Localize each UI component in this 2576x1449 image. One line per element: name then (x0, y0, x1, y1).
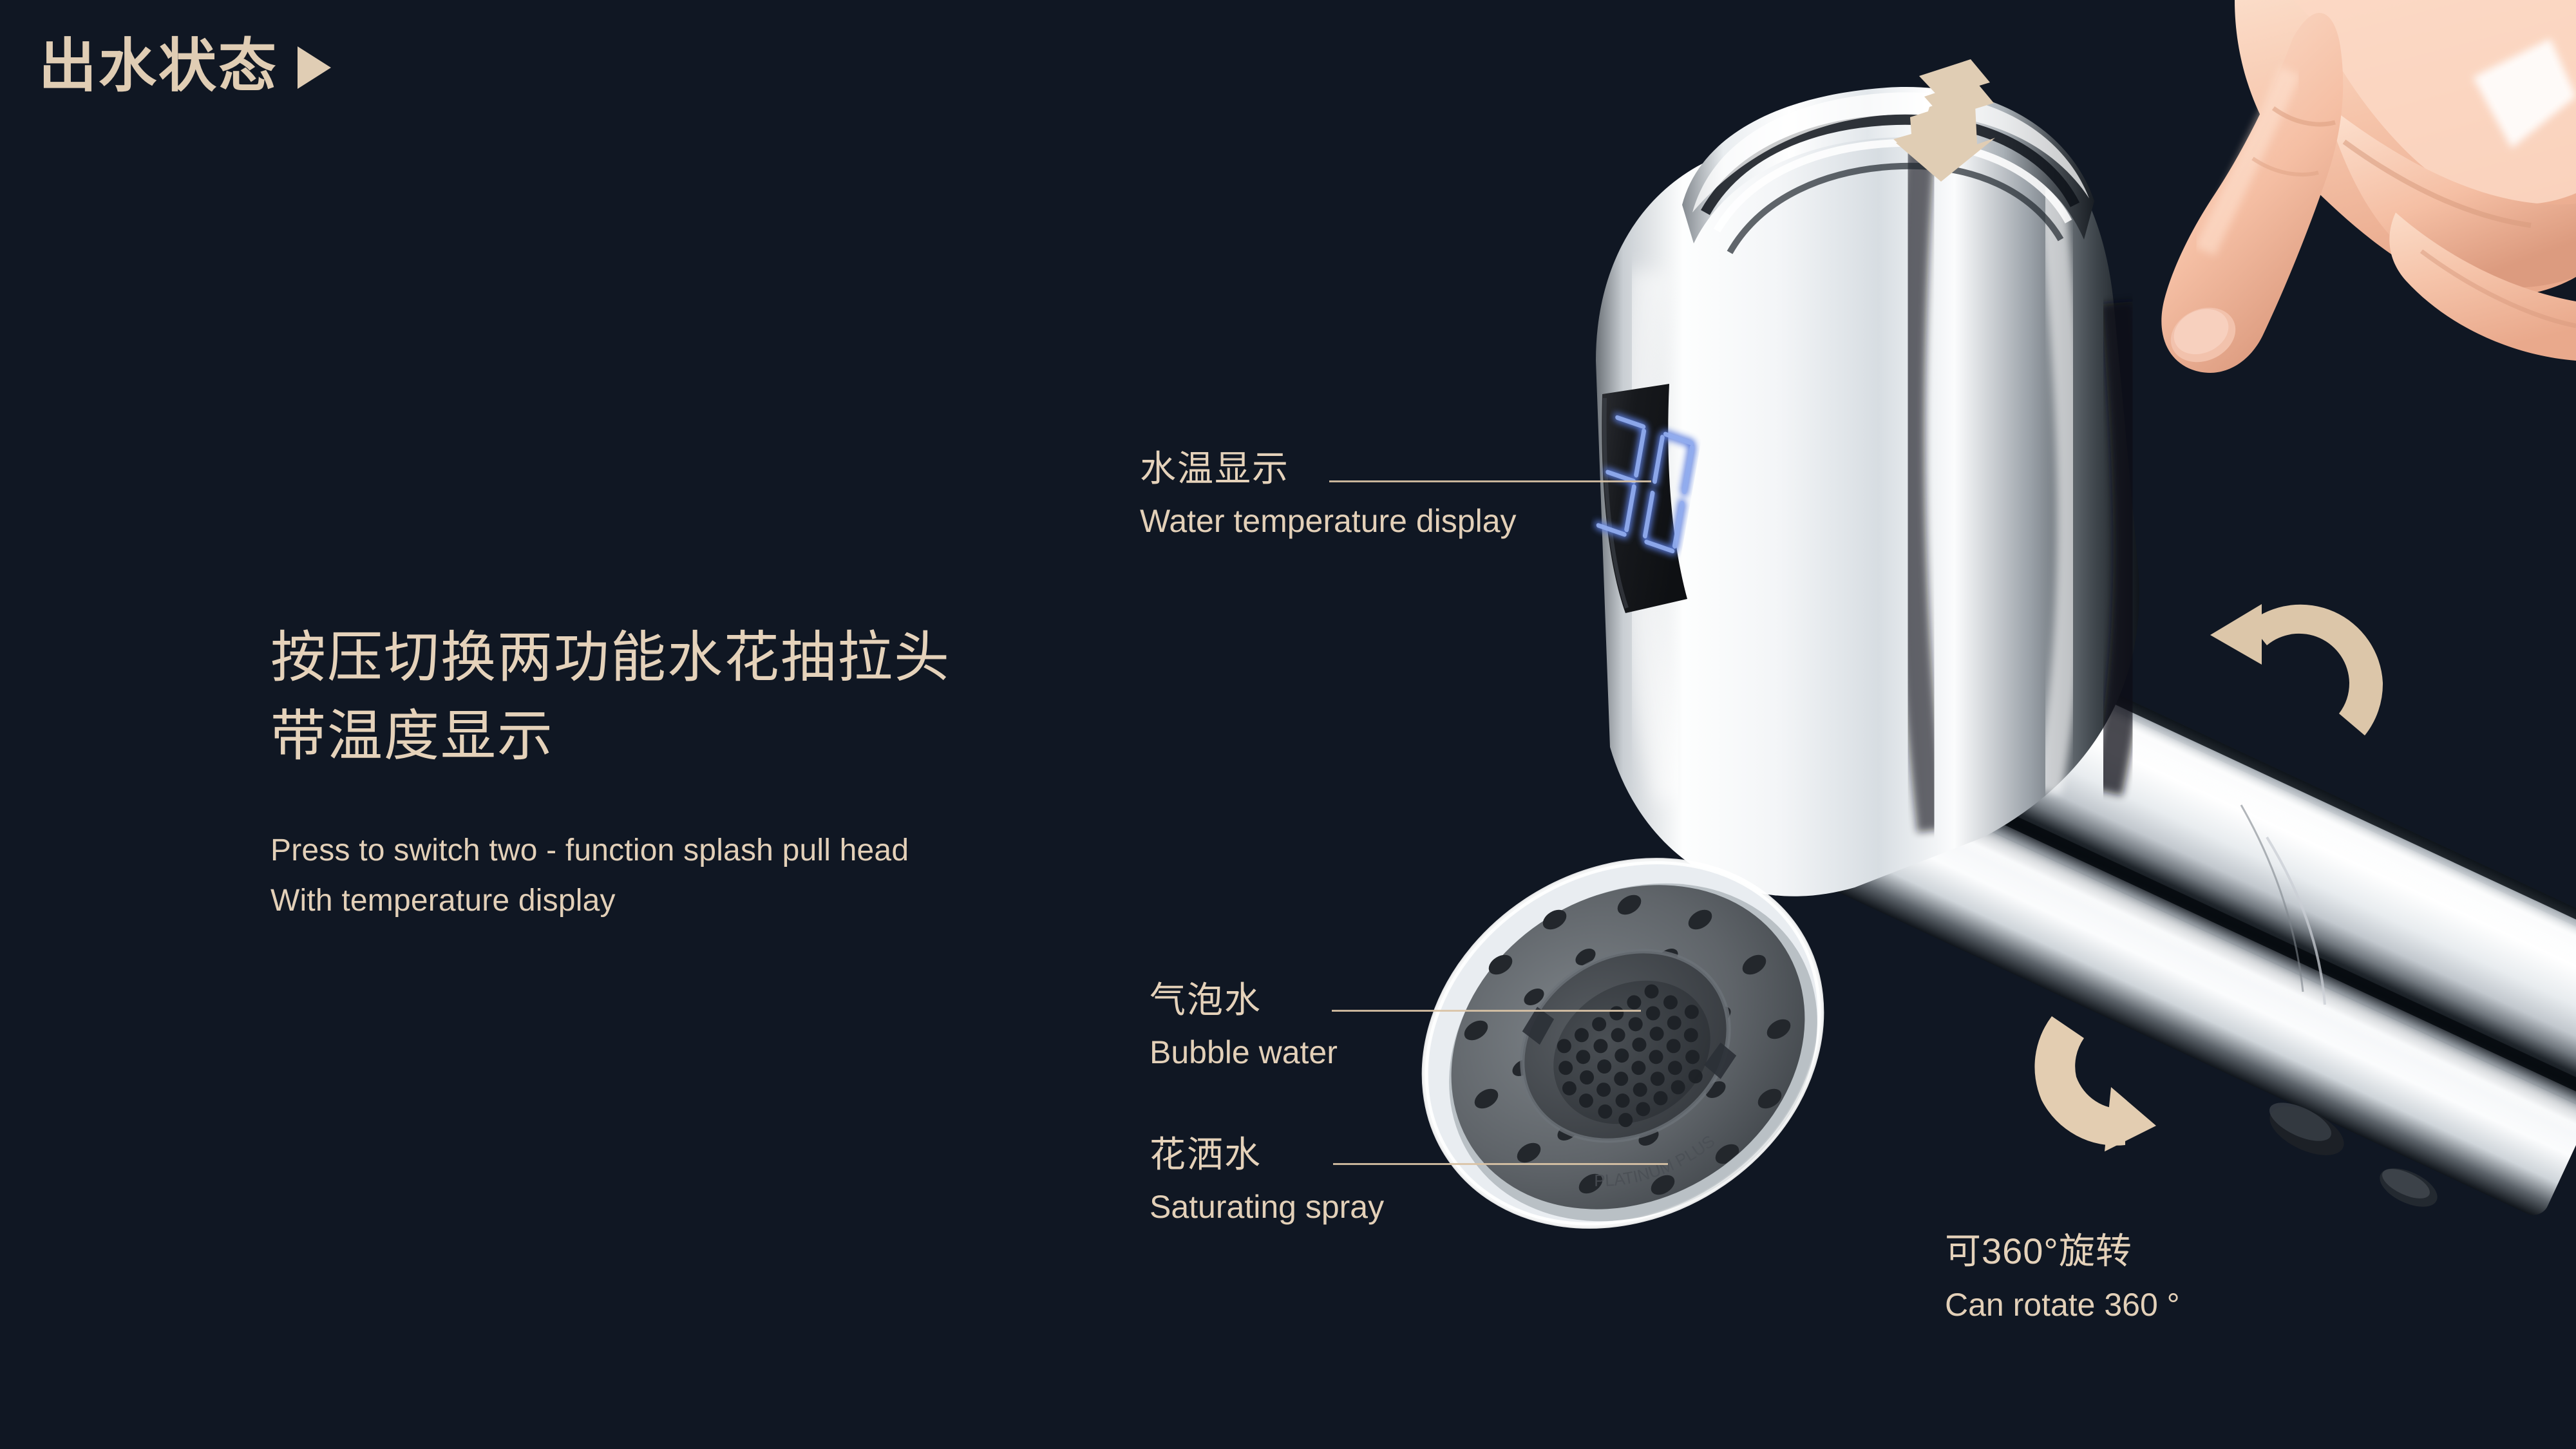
callout-en-label: Saturating spray (1150, 1191, 1384, 1223)
rotation-zh-label: 可360°旋转 (1945, 1233, 2180, 1269)
rotate-counterclockwise-arrow-icon (2210, 604, 2383, 735)
leader-line-saturating-spray (1333, 1163, 1668, 1165)
play-triangle-icon (298, 46, 331, 89)
callout-en-label: Water temperature display (1140, 505, 1517, 537)
rotation-label: 可360°旋转 Can rotate 360 ° (1945, 1233, 2180, 1321)
callout-zh-label: 气泡水 (1150, 982, 1338, 1018)
faucet-head-body (1596, 97, 2139, 896)
headline-zh-line1: 按压切换两功能水花抽拉头 (270, 618, 1236, 697)
callout-bubble-water: 气泡水 Bubble water (1150, 982, 1338, 1068)
page-header: 出水状态 (39, 37, 331, 95)
headline-block: 按压切换两功能水花抽拉头 带温度显示 Press to switch two -… (270, 618, 1236, 926)
rotation-en-label: Can rotate 360 ° (1945, 1289, 2180, 1321)
callout-saturating-spray: 花洒水 Saturating spray (1150, 1137, 1384, 1223)
headline-en-line1: Press to switch two - function splash pu… (270, 826, 1236, 876)
leader-line-water-temperature (1329, 480, 1651, 482)
headline-zh-line2: 带温度显示 (270, 697, 1236, 775)
callout-en-label: Bubble water (1150, 1036, 1338, 1068)
product-feature-slide: PLATINUM PLUS (0, 0, 2576, 1449)
callout-water-temperature-display: 水温显示 Water temperature display (1140, 451, 1517, 537)
page-title: 出水状态 (39, 37, 278, 95)
headline-en-line2: With temperature display (270, 876, 1236, 926)
callout-zh-label: 花洒水 (1150, 1137, 1384, 1173)
pointing-hand-icon (2161, 0, 2576, 373)
leader-line-bubble-water (1332, 1010, 1641, 1012)
rotate-clockwise-arrow-icon (2034, 1016, 2156, 1151)
